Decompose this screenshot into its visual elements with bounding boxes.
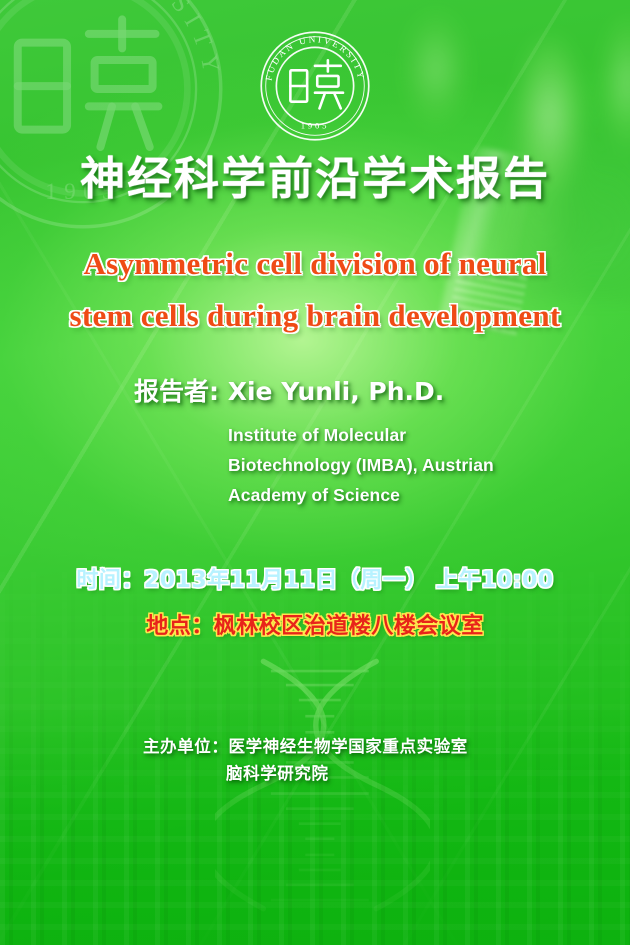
- title-english-line-2: stem cells during brain development: [0, 290, 630, 342]
- event-location: 地点：枫林校区治道楼八楼会议室: [0, 608, 630, 640]
- title-english-line-1: Asymmetric cell division of neural: [0, 238, 630, 290]
- speaker-block: 报告者: Xie Yunli, Ph.D. Institute of Molec…: [0, 372, 630, 510]
- seal-year-text: 1905: [301, 121, 330, 131]
- seminar-poster: FUDAN UNIVERSITY 1905: [0, 0, 630, 945]
- affiliation-line-3: Academy of Science: [228, 480, 630, 510]
- page-title-chinese: 神经科学前沿学术报告: [0, 142, 630, 207]
- organizer-line-2: 脑科学研究院: [0, 760, 630, 787]
- fudan-university-seal-logo: FUDAN UNIVERSITY 1905: [259, 30, 371, 142]
- poster-content: FUDAN UNIVERSITY 1905 神经科学前沿学术报告 Asymmet…: [0, 0, 630, 945]
- page-title-english: Asymmetric cell division of neural stem …: [0, 238, 630, 342]
- speaker-name: 报告者: Xie Yunli, Ph.D.: [0, 372, 630, 408]
- event-time: 时间：2013年11月11日（周一） 上午10:00: [0, 562, 630, 594]
- affiliation-line-1: Institute of Molecular: [228, 420, 630, 450]
- organizer-footer: 主办单位：医学神经生物学国家重点实验室 脑科学研究院: [0, 733, 630, 787]
- affiliation-line-2: Biotechnology (IMBA), Austrian: [228, 450, 630, 480]
- speaker-affiliation: Institute of Molecular Biotechnology (IM…: [0, 420, 630, 510]
- organizer-line-1: 主办单位：医学神经生物学国家重点实验室: [0, 733, 630, 760]
